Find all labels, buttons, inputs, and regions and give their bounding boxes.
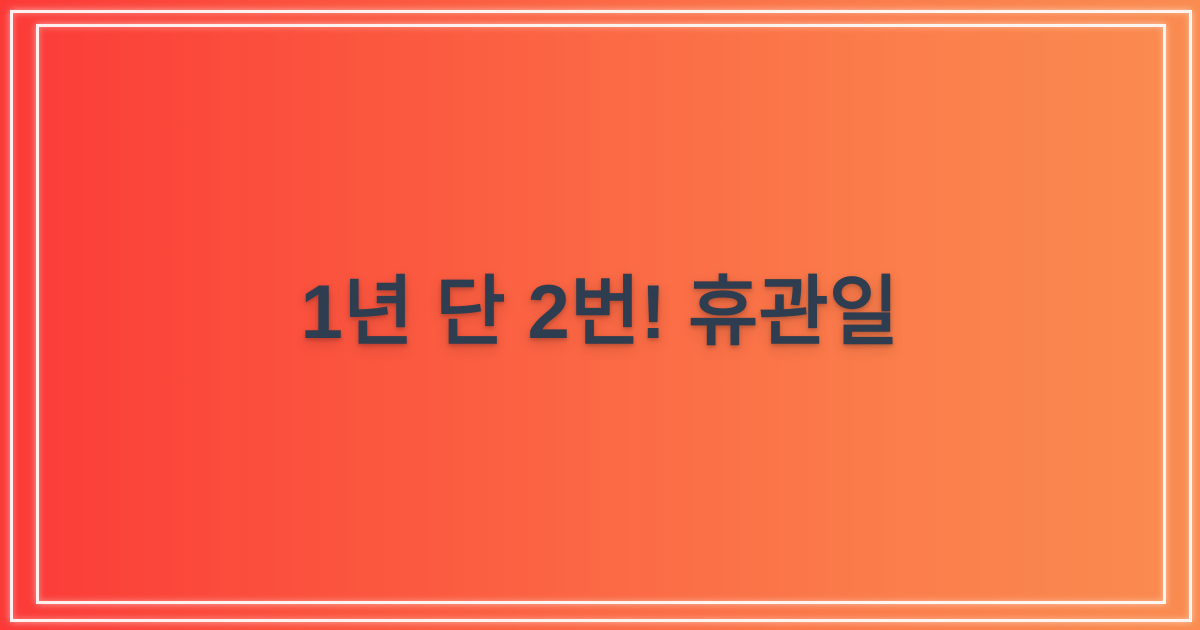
page-title: 1년 단 2번! 휴관일 <box>301 268 900 358</box>
title-container: 1년 단 2번! 휴관일 <box>0 0 1200 630</box>
og-image-card: 1년 단 2번! 휴관일 <box>0 0 1200 630</box>
